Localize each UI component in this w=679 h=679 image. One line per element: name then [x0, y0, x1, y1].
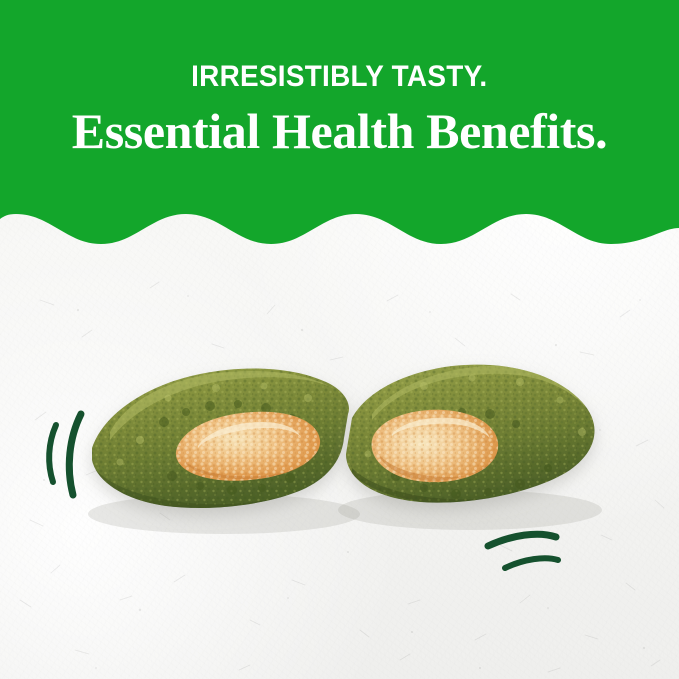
wave-edge-shape — [0, 0, 679, 244]
green-header-band — [0, 0, 679, 262]
marketing-banner: IRRESISTIBLY TASTY. Essential Health Ben… — [0, 0, 679, 679]
treat-filling-right — [372, 410, 499, 482]
product-photo-area — [0, 262, 679, 679]
treat-half-left — [80, 357, 370, 522]
treat-half-right — [336, 352, 616, 517]
